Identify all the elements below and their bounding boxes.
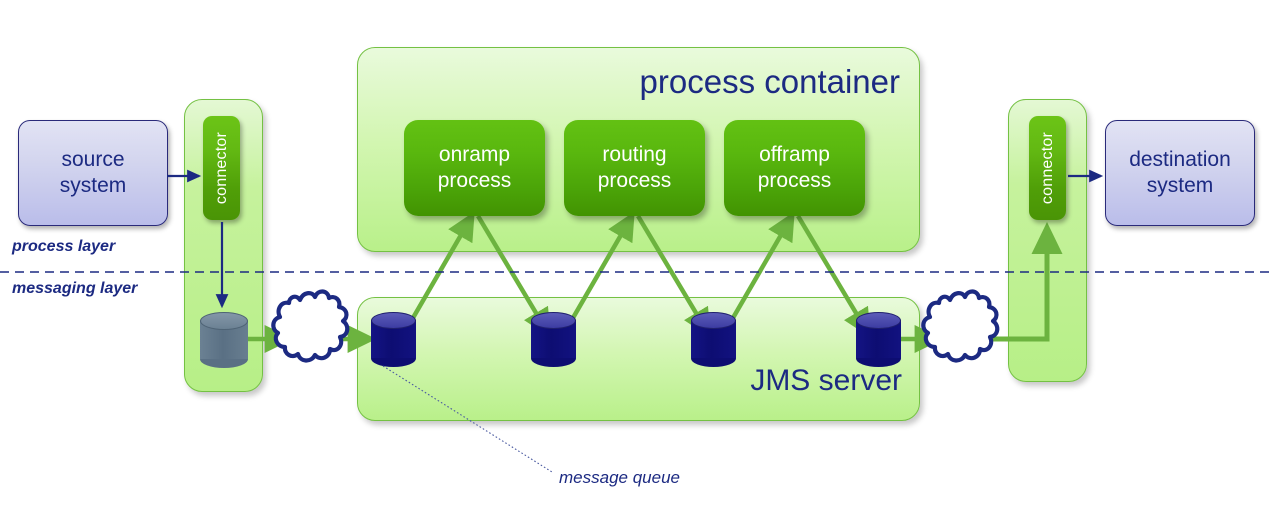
- process-routing-line1: routing: [598, 142, 672, 168]
- process-routing-line2: process: [598, 168, 672, 194]
- message-queue-3[interactable]: [691, 312, 736, 368]
- source-system-line1: source: [60, 147, 127, 173]
- process-onramp-line2: process: [438, 168, 512, 194]
- right-connector-label: connector: [1039, 132, 1057, 204]
- right-connector-box[interactable]: connector: [1029, 116, 1066, 220]
- diagram-canvas: source system destination system connect…: [0, 0, 1269, 515]
- source-system-box[interactable]: source system: [18, 120, 168, 226]
- message-queue-4[interactable]: [856, 312, 901, 368]
- jms-server-title: JMS server: [600, 364, 902, 398]
- process-box-onramp[interactable]: onramp process: [404, 120, 545, 216]
- destination-system-box[interactable]: destination system: [1105, 120, 1255, 226]
- process-onramp-line1: onramp: [438, 142, 512, 168]
- jms-server-panel: [357, 297, 920, 421]
- process-offramp-line2: process: [758, 168, 832, 194]
- destination-system-line1: destination: [1129, 147, 1231, 173]
- process-box-offramp[interactable]: offramp process: [724, 120, 865, 216]
- left-connector-label: connector: [213, 132, 231, 204]
- left-connector-box[interactable]: connector: [203, 116, 240, 220]
- destination-system-line2: system: [1129, 173, 1231, 199]
- messaging-layer-label: messaging layer: [12, 280, 137, 298]
- staging-cylinder[interactable]: [200, 312, 248, 368]
- source-system-line2: system: [60, 173, 127, 199]
- message-queue-2[interactable]: [531, 312, 576, 368]
- process-offramp-line1: offramp: [758, 142, 832, 168]
- network-cloud-left-icon: [273, 291, 347, 360]
- network-cloud-right-icon: [923, 291, 997, 360]
- process-layer-label: process layer: [12, 238, 115, 256]
- message-queue-1[interactable]: [371, 312, 416, 368]
- process-container-title: process container: [592, 63, 900, 101]
- process-box-routing[interactable]: routing process: [564, 120, 705, 216]
- message-queue-annotation: message queue: [559, 468, 680, 488]
